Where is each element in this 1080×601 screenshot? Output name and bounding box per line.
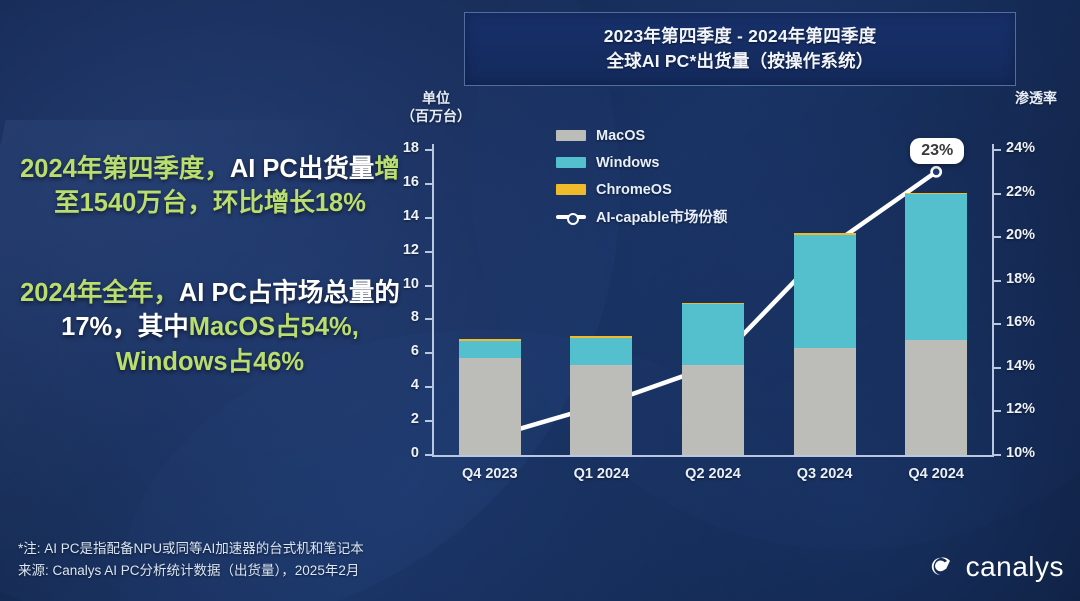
y-axis-tick-left bbox=[425, 217, 432, 219]
bar-column[interactable] bbox=[570, 150, 632, 455]
y-axis-tick-label-right: 12% bbox=[1006, 401, 1066, 417]
bar-column[interactable] bbox=[459, 150, 521, 455]
bar-segment-chromeos[interactable] bbox=[459, 339, 521, 342]
data-point-callout: 23% bbox=[910, 138, 964, 164]
y-axis-tick-label-left: 14 bbox=[373, 208, 419, 224]
bar-segment-chromeos[interactable] bbox=[570, 336, 632, 338]
chart-title-box: 2023年第四季度 - 2024年第四季度 全球AI PC*出货量（按操作系统） bbox=[464, 12, 1016, 86]
y-axis-title-left: 单位 （百万台） bbox=[394, 90, 478, 125]
y-axis-tick-label-right: 22% bbox=[1006, 184, 1066, 200]
y-axis-tick-label-left: 4 bbox=[373, 377, 419, 393]
narrative-p2-seg1: 2024年全年， bbox=[20, 279, 179, 307]
narrative-p1-seg1: 2024年第四季度， bbox=[20, 155, 230, 183]
narrative-panel: 2024年第四季度，AI PC出货量增至1540万台，环比增长18% 2024年… bbox=[10, 152, 410, 379]
y-axis-tick-right bbox=[994, 193, 1001, 195]
bar-segment-windows[interactable] bbox=[570, 338, 632, 365]
y-axis-tick-right bbox=[994, 323, 1001, 325]
chart-title-line-1: 2023年第四季度 - 2024年第四季度 bbox=[604, 24, 877, 49]
y-axis-tick-right bbox=[994, 149, 1001, 151]
y-axis-tick-label-right: 18% bbox=[1006, 271, 1066, 287]
y-axis-tick-label-left: 16 bbox=[373, 174, 419, 190]
y-axis-title-left-line1: 单位 bbox=[394, 90, 478, 108]
footnote-line-2: 来源: Canalys AI PC分析统计数据（出货量），2025年2月 bbox=[18, 560, 538, 582]
bar-segment-macos[interactable] bbox=[682, 365, 744, 455]
y-axis-tick-label-right: 24% bbox=[1006, 140, 1066, 156]
y-axis-tick-label-right: 20% bbox=[1006, 227, 1066, 243]
y-axis-tick-label-left: 8 bbox=[373, 309, 419, 325]
y-axis-tick-right bbox=[994, 367, 1001, 369]
y-axis-tick-left bbox=[425, 251, 432, 253]
y-axis-tick-label-left: 0 bbox=[373, 445, 419, 461]
y-axis-tick-label-right: 10% bbox=[1006, 445, 1066, 461]
canalys-swirl-icon bbox=[927, 552, 957, 582]
y-axis-title-left-line2: （百万台） bbox=[394, 108, 478, 126]
narrative-p1-seg4: 环比增长18% bbox=[213, 189, 366, 217]
y-axis-tick-right bbox=[994, 410, 1001, 412]
canalys-logo: canalys bbox=[927, 551, 1064, 583]
x-axis-tick-label: Q1 2024 bbox=[546, 466, 656, 482]
y-axis-tick-right bbox=[994, 280, 1001, 282]
bar-segment-windows[interactable] bbox=[682, 304, 744, 365]
plot-area: 02468101214161810%12%14%16%18%20%22%24%Q… bbox=[388, 144, 1080, 508]
y-axis-tick-label-left: 10 bbox=[373, 276, 419, 292]
y-axis-tick-left bbox=[425, 285, 432, 287]
infographic-canvas: 2023年第四季度 - 2024年第四季度 全球AI PC*出货量（按操作系统）… bbox=[0, 0, 1080, 601]
bar-segment-windows[interactable] bbox=[794, 235, 856, 349]
y-axis-tick-label-left: 6 bbox=[373, 343, 419, 359]
legend-swatch-icon bbox=[556, 130, 586, 141]
y-axis-title-right: 渗透率 bbox=[994, 90, 1078, 108]
y-axis-tick-left bbox=[425, 352, 432, 354]
canalys-wordmark: canalys bbox=[966, 551, 1064, 583]
legend-label: MacOS bbox=[596, 128, 645, 144]
bar-segment-chromeos[interactable] bbox=[794, 233, 856, 235]
y-axis-tick-left bbox=[425, 149, 432, 151]
x-axis-tick-label: Q3 2024 bbox=[770, 466, 880, 482]
y-axis-tick-left bbox=[425, 386, 432, 388]
x-axis-tick-label: Q4 2023 bbox=[435, 466, 545, 482]
y-axis-tick-label-right: 14% bbox=[1006, 358, 1066, 374]
y-axis-tick-label-left: 12 bbox=[373, 242, 419, 258]
bar-segment-macos[interactable] bbox=[905, 340, 967, 455]
stacked-bar-chart: 单位 （百万台） 渗透率 MacOSWindowsChromeOSAI-capa… bbox=[388, 88, 1080, 508]
bar-segment-chromeos[interactable] bbox=[682, 303, 744, 305]
y-axis-tick-right bbox=[994, 454, 1001, 456]
y-axis-tick-label-left: 18 bbox=[373, 140, 419, 156]
narrative-paragraph-1: 2024年第四季度，AI PC出货量增至1540万台，环比增长18% bbox=[10, 152, 410, 220]
x-axis-tick-label: Q2 2024 bbox=[658, 466, 768, 482]
narrative-p2-seg3: 其中 bbox=[138, 313, 189, 341]
bar-segment-windows[interactable] bbox=[459, 341, 521, 358]
narrative-p1-seg2: AI PC出货量 bbox=[230, 155, 375, 183]
y-axis-tick-left bbox=[425, 318, 432, 320]
bar-segment-windows[interactable] bbox=[905, 194, 967, 340]
y-axis-tick-label-left: 2 bbox=[373, 411, 419, 427]
bar-segment-macos[interactable] bbox=[570, 365, 632, 455]
bar-column[interactable] bbox=[905, 150, 967, 455]
narrative-paragraph-2: 2024年全年，AI PC占市场总量的17%，其中MacOS占54%, Wind… bbox=[10, 276, 410, 378]
y-axis-tick-left bbox=[425, 420, 432, 422]
chart-title-line-2: 全球AI PC*出货量（按操作系统） bbox=[606, 49, 873, 74]
bar-column[interactable] bbox=[794, 150, 856, 455]
bar-column[interactable] bbox=[682, 150, 744, 455]
bar-segment-macos[interactable] bbox=[794, 348, 856, 455]
y-axis-tick-label-right: 16% bbox=[1006, 314, 1066, 330]
footnote-line-1: *注: AI PC是指配备NPU或同等AI加速器的台式机和笔记本 bbox=[18, 538, 538, 560]
y-axis-tick-right bbox=[994, 236, 1001, 238]
bar-segment-chromeos[interactable] bbox=[905, 193, 967, 194]
y-axis-tick-left bbox=[425, 183, 432, 185]
bar-segment-macos[interactable] bbox=[459, 358, 521, 455]
y-axis-tick-left bbox=[425, 454, 432, 456]
x-axis-tick-label: Q4 2024 bbox=[881, 466, 991, 482]
footnote: *注: AI PC是指配备NPU或同等AI加速器的台式机和笔记本 来源: Can… bbox=[18, 538, 538, 582]
